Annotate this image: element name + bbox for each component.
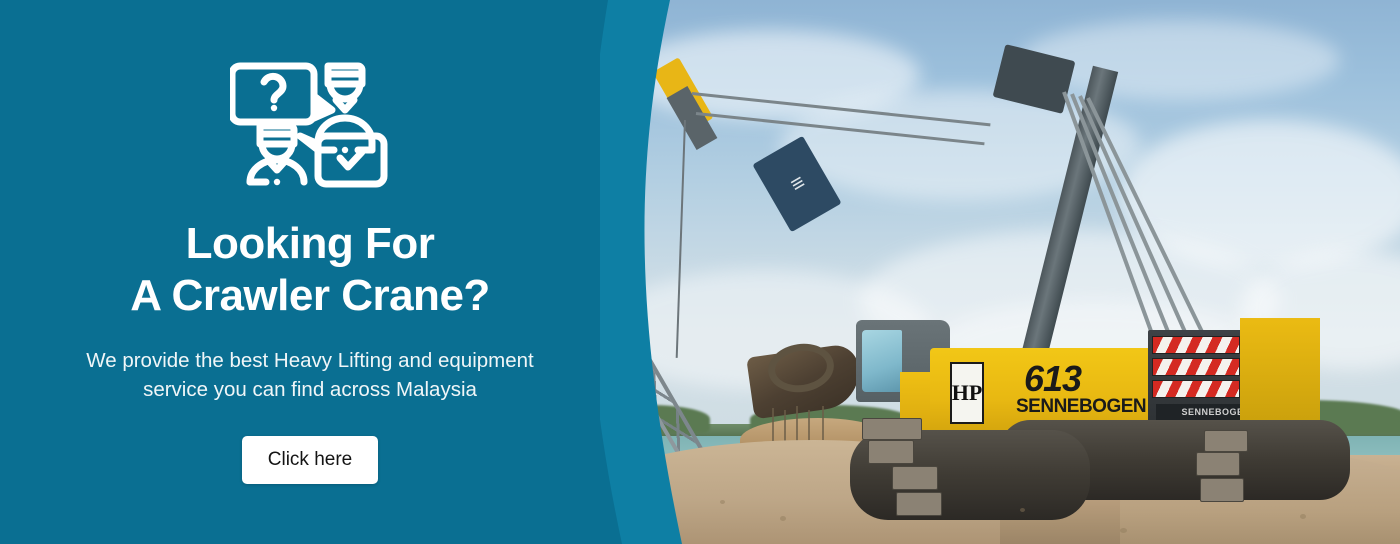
- cab-window: [862, 330, 902, 392]
- gravel-speck: [1120, 528, 1127, 533]
- gravel-speck: [780, 516, 786, 521]
- crane-photo: ≡ HP 613 SENNEBOGEN SENNEBOGEN: [600, 0, 1400, 544]
- subtitle-line-2: service you can find across Malaysia: [86, 375, 533, 404]
- warning-stripe: [1152, 336, 1240, 354]
- question-speech-bubble-icon: [232, 66, 332, 122]
- track-shoe: [1204, 430, 1248, 452]
- promo-banner: ≡ HP 613 SENNEBOGEN SENNEBOGEN: [0, 0, 1400, 544]
- track-shoe: [896, 492, 942, 516]
- rear-yellow-housing: [1240, 318, 1320, 426]
- worker-person-icon: [250, 126, 304, 185]
- crane-brand: SENNEBOGEN: [1016, 396, 1146, 418]
- warning-stripe: [1152, 358, 1240, 376]
- track-shoe: [892, 466, 938, 490]
- track-shoe: [1196, 452, 1240, 476]
- promo-content: Looking For A Crawler Crane? We provide …: [0, 0, 620, 544]
- gravel-speck: [720, 500, 725, 504]
- click-here-button[interactable]: Click here: [242, 436, 378, 484]
- operator-badge: HP: [950, 362, 984, 424]
- page-title: Looking For A Crawler Crane?: [130, 218, 490, 322]
- gravel-speck: [1300, 514, 1306, 519]
- crane-model-number: 613: [1024, 358, 1081, 400]
- track-shoe: [1200, 478, 1244, 502]
- consultation-people-icon: [230, 48, 390, 190]
- gravel-speck: [1020, 508, 1025, 512]
- subtitle: We provide the best Heavy Lifting and eq…: [86, 346, 533, 404]
- subtitle-line-1: We provide the best Heavy Lifting and eq…: [86, 346, 533, 375]
- warning-stripe: [1152, 380, 1240, 398]
- headline-line-2: A Crawler Crane?: [130, 270, 490, 322]
- track-shoe: [868, 440, 914, 464]
- falling-material: [822, 406, 824, 440]
- headline-line-1: Looking For: [130, 218, 490, 270]
- track-shoe: [862, 418, 922, 440]
